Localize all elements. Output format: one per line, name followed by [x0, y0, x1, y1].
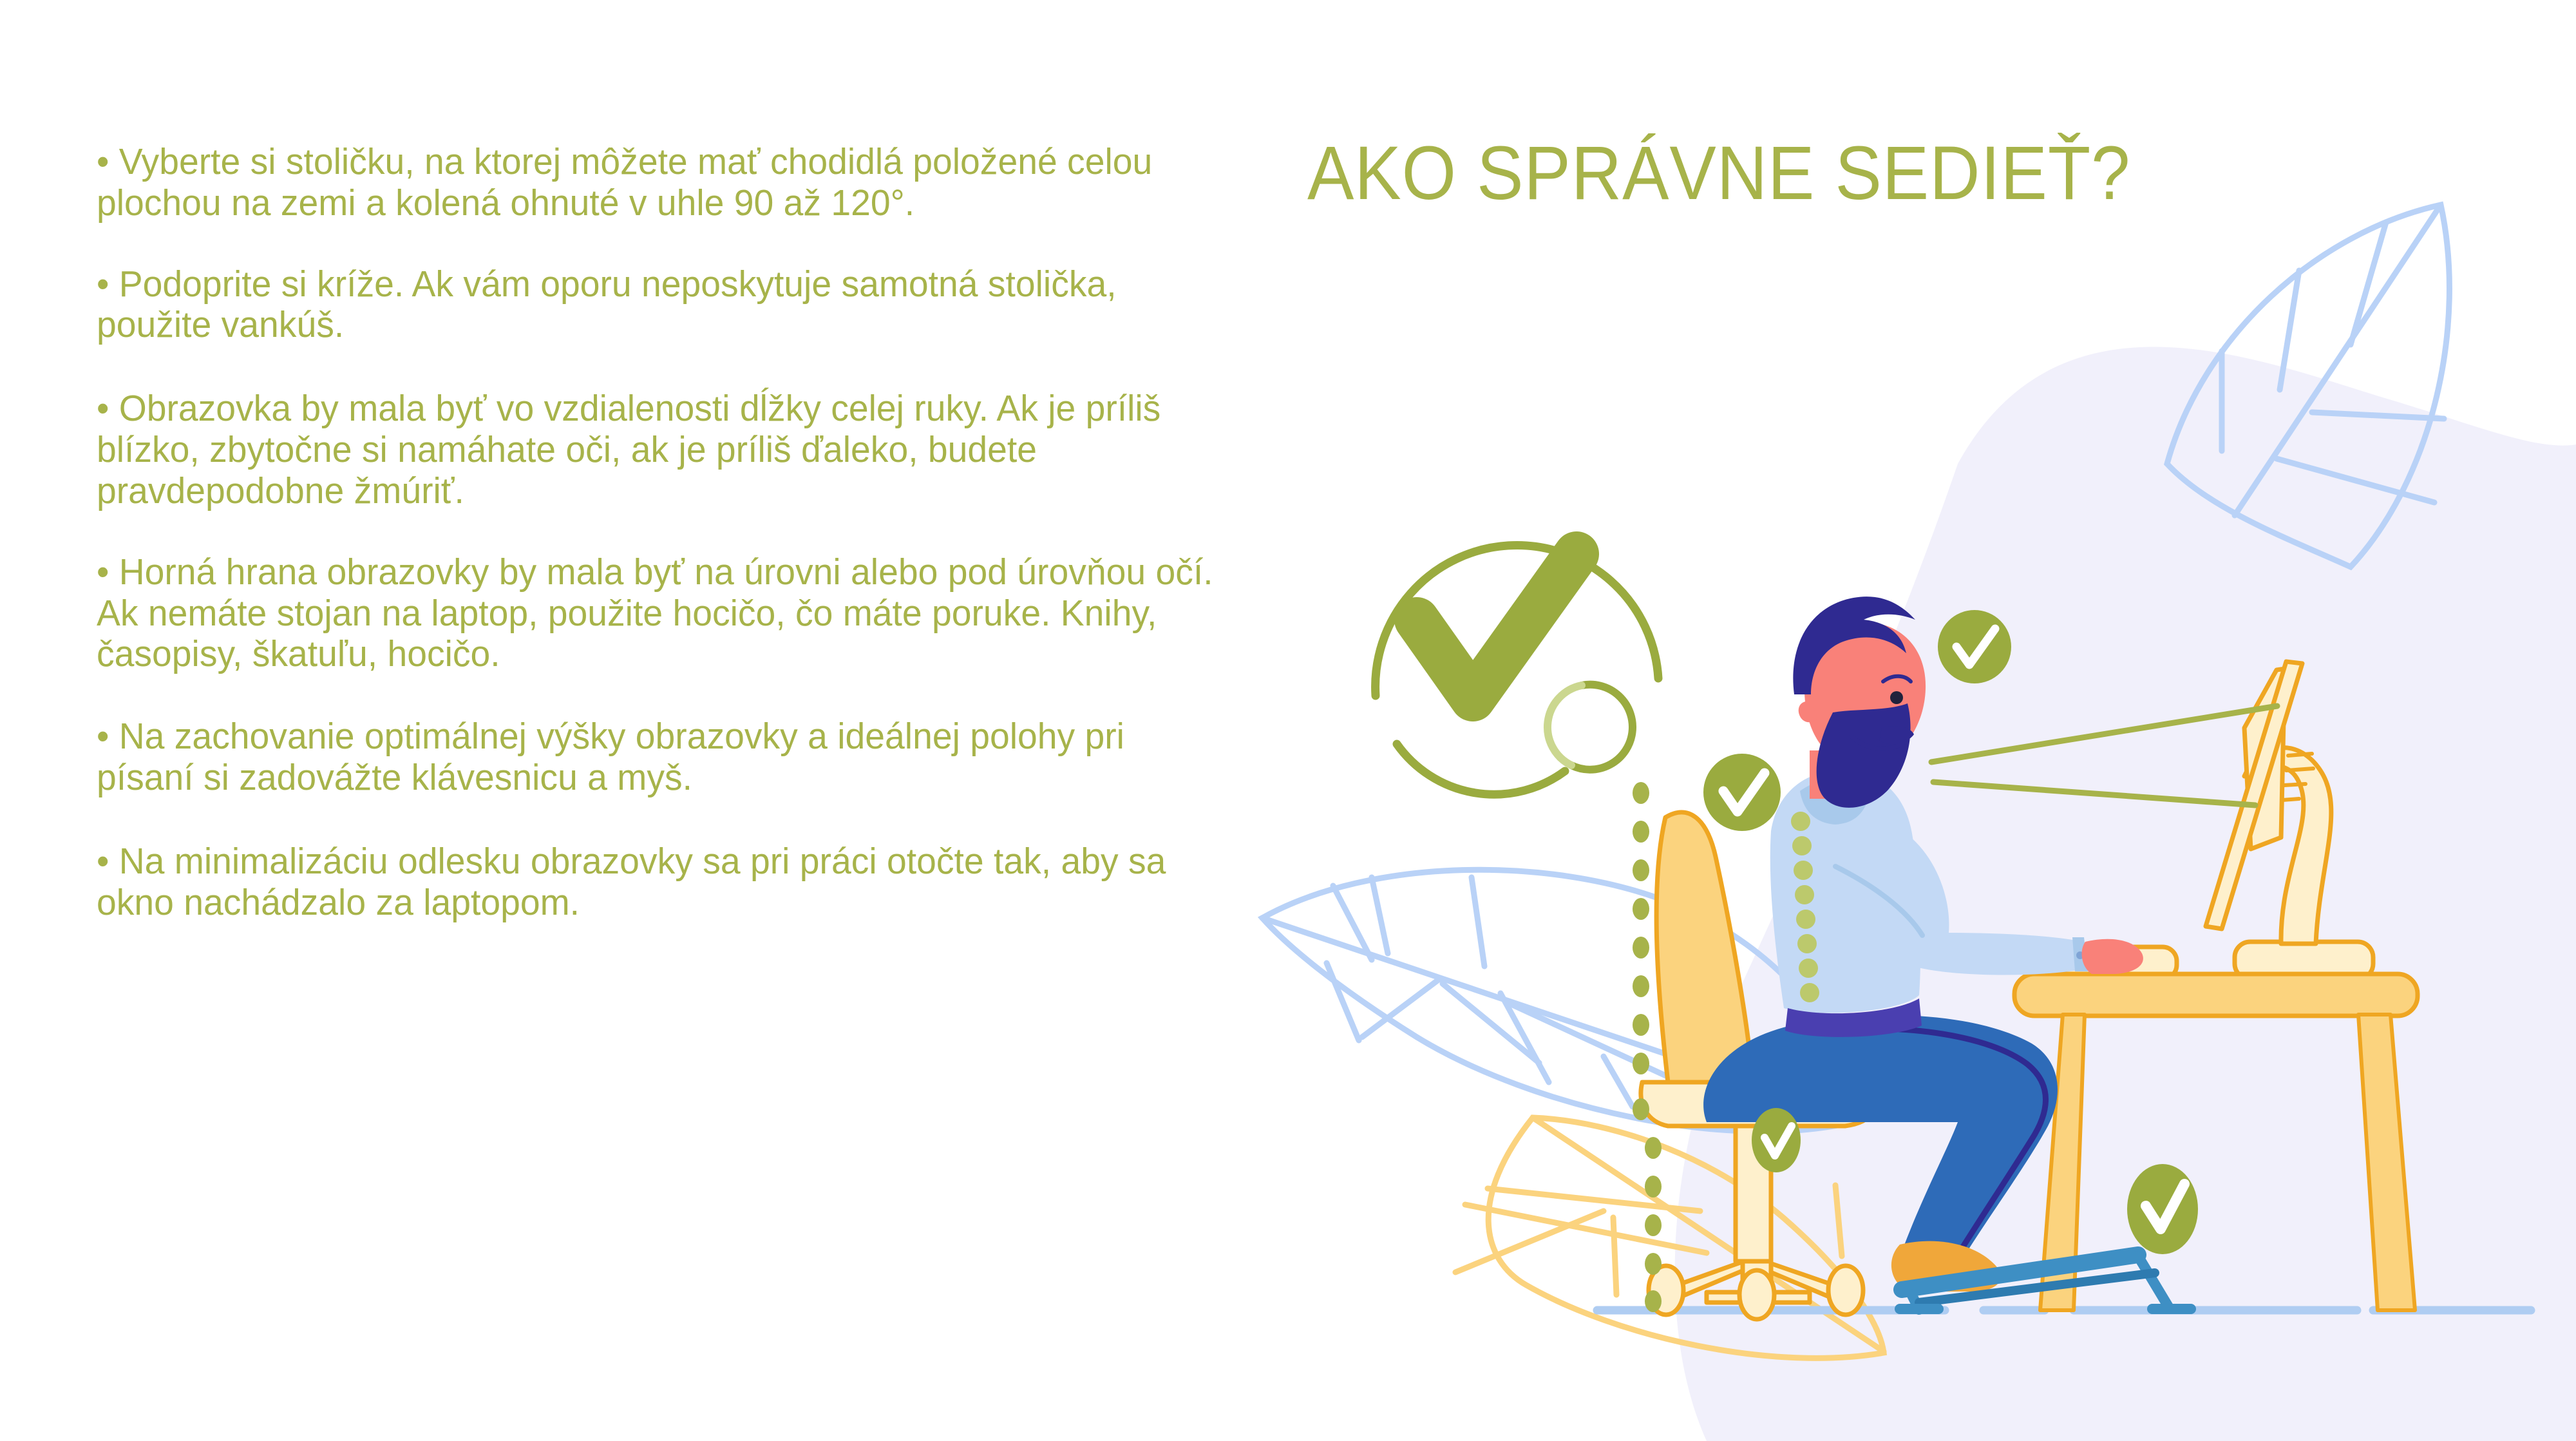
list-item: • Na zachovanie optimálnej výšky obrazov…	[97, 716, 1221, 799]
chair-backrest	[1656, 812, 1753, 1082]
check-badge-feet	[2127, 1164, 2198, 1254]
small-ring	[1571, 685, 1633, 770]
check-badge-back	[1703, 754, 1781, 831]
list-item: • Horná hrana obrazovky by mala byť na ú…	[97, 552, 1221, 675]
page-title: AKO SPRÁVNE SEDIEŤ?	[1307, 135, 2433, 211]
big-checkmark-glyph	[1417, 554, 1577, 699]
advice-bullet-list: • Vyberte si stoličku, na ktorej môžete …	[97, 142, 1256, 924]
list-item: • Podoprite si kríže. Ak vám oporu nepos…	[97, 264, 1221, 347]
list-item: • Vyberte si stoličku, na ktorej môžete …	[97, 142, 1221, 224]
person-eye	[1890, 691, 1903, 704]
chair-wheel	[1739, 1270, 1774, 1319]
chair-wheel	[1828, 1266, 1863, 1315]
list-item: • Na minimalizáciu odlesku obrazovky sa …	[97, 841, 1221, 924]
check-badge-chair	[1752, 1108, 1801, 1172]
illustration-svg	[1256, 0, 2576, 1441]
list-item: • Obrazovka by mala byť vo vzdialenosti …	[97, 388, 1221, 511]
desk-top	[2014, 974, 2418, 1016]
big-check-circle	[1376, 546, 1658, 795]
check-badge-head	[1938, 610, 2011, 683]
poster-root: AKO SPRÁVNE SEDIEŤ? • Vyberte si stoličk…	[0, 0, 2576, 1441]
illustration-panel	[1256, 0, 2576, 1441]
